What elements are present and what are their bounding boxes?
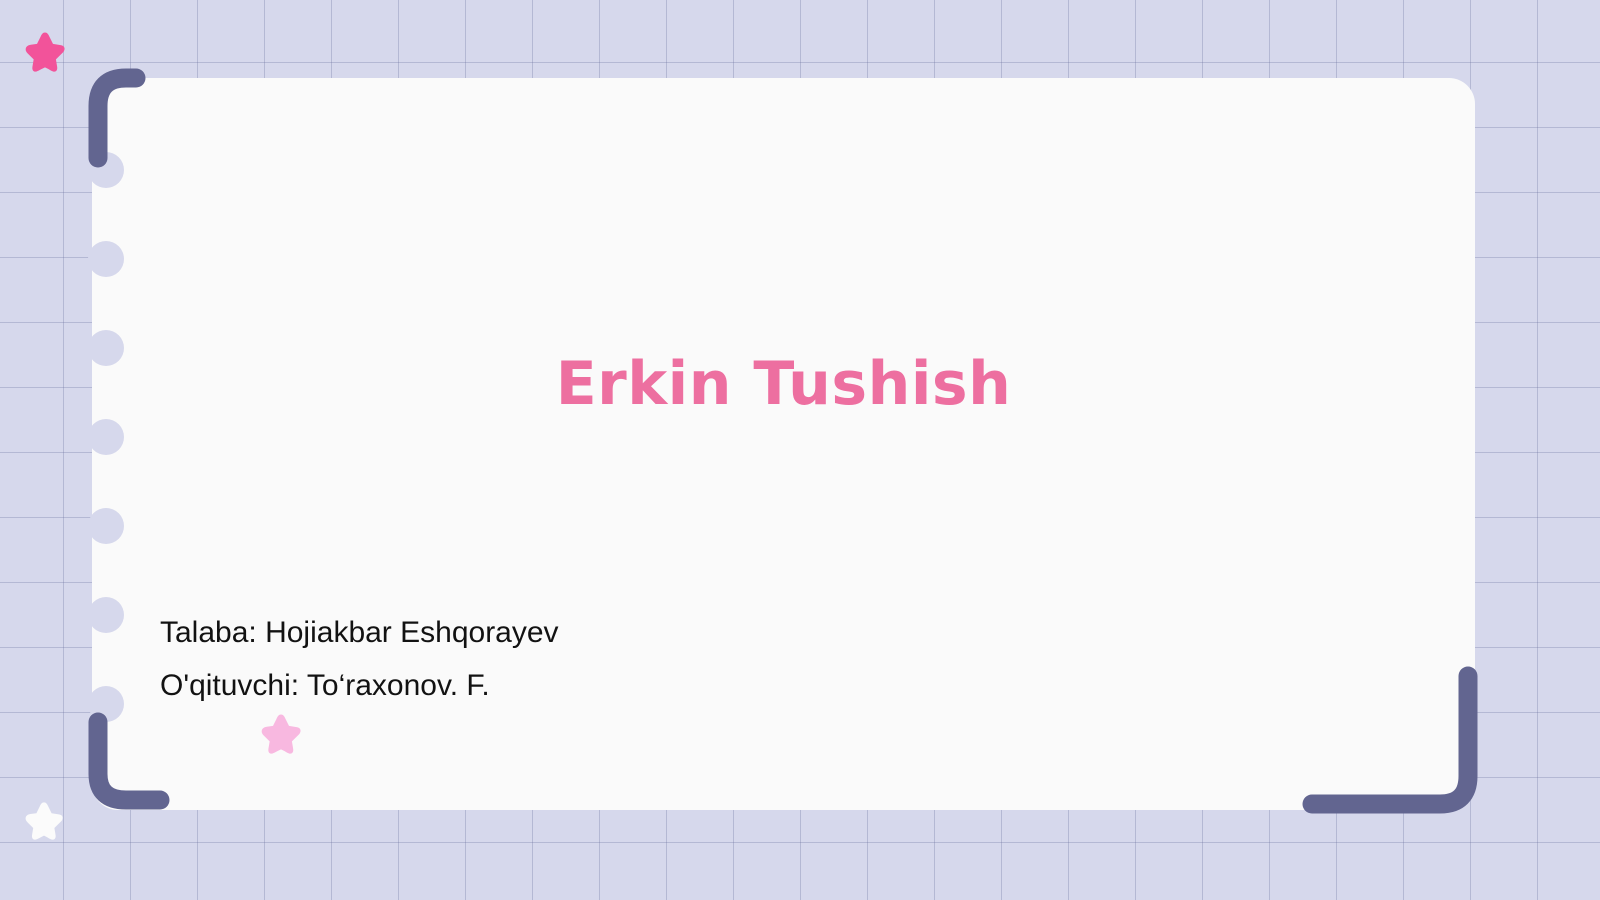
slide-content: Erkin Tushish Talaba: Hojiakbar Eshqoray… bbox=[92, 78, 1475, 810]
slide-meta-block: Talaba: Hojiakbar Eshqorayev O'qituvchi:… bbox=[160, 606, 1060, 713]
presentation-slide: Erkin Tushish Talaba: Hojiakbar Eshqoray… bbox=[0, 0, 1600, 900]
slide-title: Erkin Tushish bbox=[92, 350, 1475, 419]
meta-line-student: Talaba: Hojiakbar Eshqorayev bbox=[160, 606, 1060, 659]
meta-line-teacher: O'qituvchi: To‘raxonov. F. bbox=[160, 659, 1060, 712]
